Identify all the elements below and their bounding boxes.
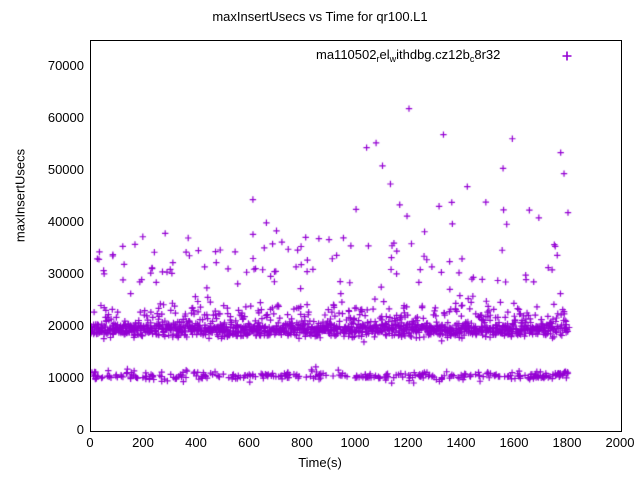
y-tick-label: 50000 bbox=[48, 163, 84, 176]
plus-marker-icon bbox=[558, 48, 576, 64]
x-tick-label: 1400 bbox=[431, 436, 491, 449]
x-tick-label: 1000 bbox=[325, 436, 385, 449]
y-tick-label: 10000 bbox=[48, 371, 84, 384]
x-tick-label: 200 bbox=[113, 436, 173, 449]
y-tick-label: 0 bbox=[77, 423, 84, 436]
y-axis-label: maxInsertUsecs bbox=[13, 136, 28, 256]
page-title: maxInsertUsecs vs Time for qr100.L1 bbox=[0, 9, 640, 25]
x-tick-label: 2000 bbox=[590, 436, 640, 449]
legend: ma110502relwithdbg.cz12bc8r32 bbox=[316, 45, 500, 65]
x-tick-label: 600 bbox=[219, 436, 279, 449]
chart-container: maxInsertUsecs vs Time for qr100.L1 maxI… bbox=[0, 0, 640, 480]
y-tick-label: 60000 bbox=[48, 111, 84, 124]
x-axis-label: Time(s) bbox=[0, 455, 640, 470]
x-tick-label: 400 bbox=[166, 436, 226, 449]
x-tick-label: 1600 bbox=[484, 436, 544, 449]
plot-frame bbox=[90, 40, 622, 432]
x-tick-label: 1800 bbox=[537, 436, 597, 449]
x-tick-label: 800 bbox=[272, 436, 332, 449]
y-tick-label: 40000 bbox=[48, 215, 84, 228]
x-tick-label: 1200 bbox=[378, 436, 438, 449]
legend-series-label: ma110502relwithdbg.cz12bc8r32 bbox=[316, 47, 500, 64]
y-tick-label: 30000 bbox=[48, 267, 84, 280]
x-tick-label: 0 bbox=[60, 436, 120, 449]
scatter-data-layer bbox=[91, 41, 621, 431]
y-tick-label: 70000 bbox=[48, 59, 84, 72]
y-tick-label: 20000 bbox=[48, 319, 84, 332]
